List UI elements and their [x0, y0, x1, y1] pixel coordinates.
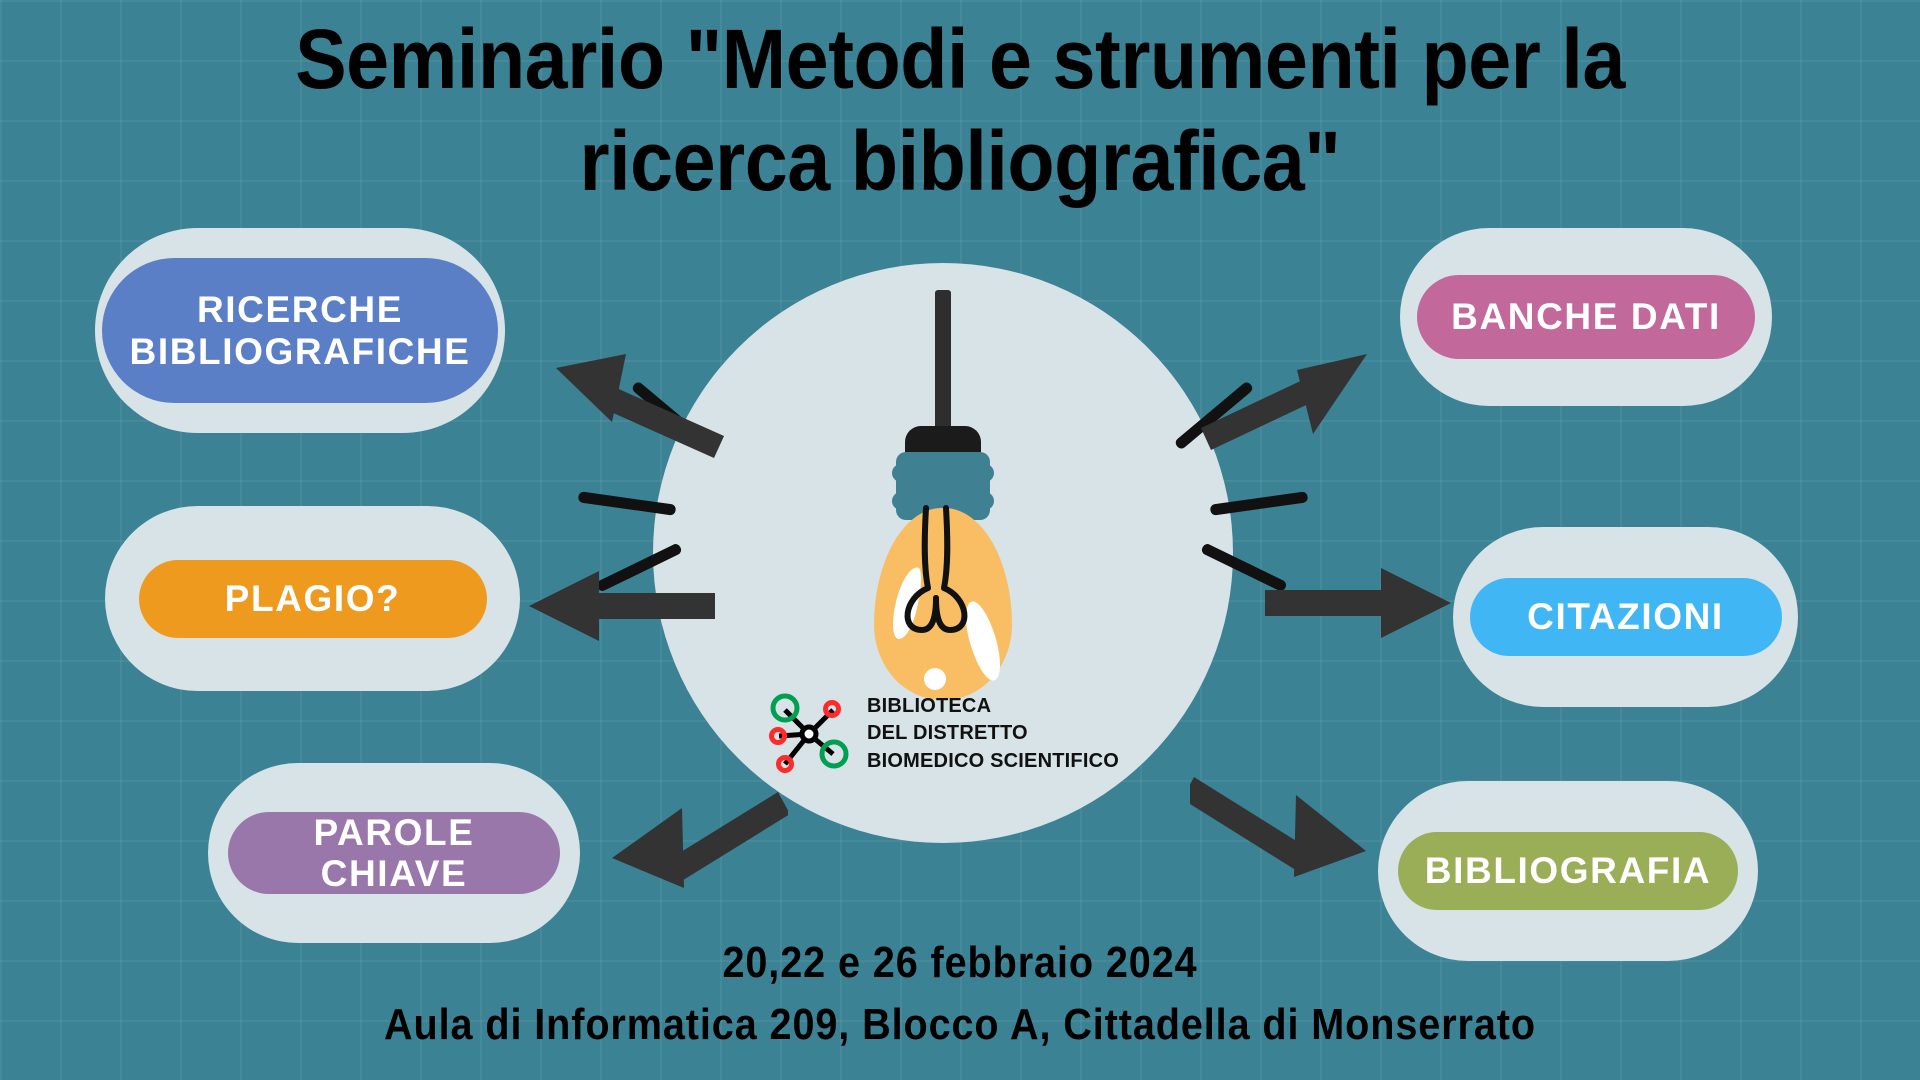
event-location: Aula di Informatica 209, Blocco A, Citta… — [96, 1000, 1824, 1050]
topic-pill-parole-chiave[interactable]: PAROLE CHIAVE — [228, 812, 560, 894]
topic-card-banche-dati[interactable]: BANCHE DATI — [1400, 228, 1772, 406]
bulb-small-highlight — [924, 668, 946, 690]
topic-card-ricerche-bibliografiche[interactable]: RICERCHE BIBLIOGRAFICHE — [95, 228, 505, 433]
topic-card-parole-chiave[interactable]: PAROLE CHIAVE — [208, 763, 580, 943]
light-ray-right-2 — [1210, 491, 1309, 516]
arrow-to-ricerche-icon — [548, 348, 728, 458]
topic-card-citazioni[interactable]: CITAZIONI — [1453, 527, 1798, 707]
bulb-filament — [874, 502, 1012, 662]
topic-pill-ricerche-bibliografiche[interactable]: RICERCHE BIBLIOGRAFICHE — [102, 258, 498, 403]
light-ray-left-2 — [578, 491, 677, 516]
arrow-to-banche-dati-icon — [1195, 338, 1375, 453]
topic-pill-bibliografia[interactable]: BIBLIOGRAFIA — [1398, 832, 1738, 910]
library-logo: BIBLIOTECA DEL DISTRETTO BIOMEDICO SCIEN… — [763, 688, 1119, 780]
logo-text: BIBLIOTECA DEL DISTRETTO BIOMEDICO SCIEN… — [867, 693, 1119, 775]
molecule-network-icon — [763, 688, 855, 780]
page-title: Seminario "Metodi e strumenti per la ric… — [77, 8, 1843, 213]
arrow-to-plagio-icon — [527, 565, 717, 645]
arrow-to-parole-chiave-icon — [608, 770, 788, 895]
arrow-to-bibliografia-icon — [1190, 755, 1370, 885]
topic-card-plagio[interactable]: PLAGIO? — [105, 506, 520, 691]
event-date: 20,22 e 26 febbraio 2024 — [96, 938, 1824, 988]
poster-canvas: Seminario "Metodi e strumenti per la ric… — [0, 0, 1920, 1080]
topic-pill-citazioni[interactable]: CITAZIONI — [1470, 578, 1782, 656]
topic-card-bibliografia[interactable]: BIBLIOGRAFIA — [1378, 781, 1758, 961]
topic-pill-plagio[interactable]: PLAGIO? — [139, 560, 487, 638]
topic-pill-banche-dati[interactable]: BANCHE DATI — [1417, 275, 1755, 359]
arrow-to-citazioni-icon — [1263, 562, 1453, 642]
bulb-cord — [935, 290, 951, 440]
